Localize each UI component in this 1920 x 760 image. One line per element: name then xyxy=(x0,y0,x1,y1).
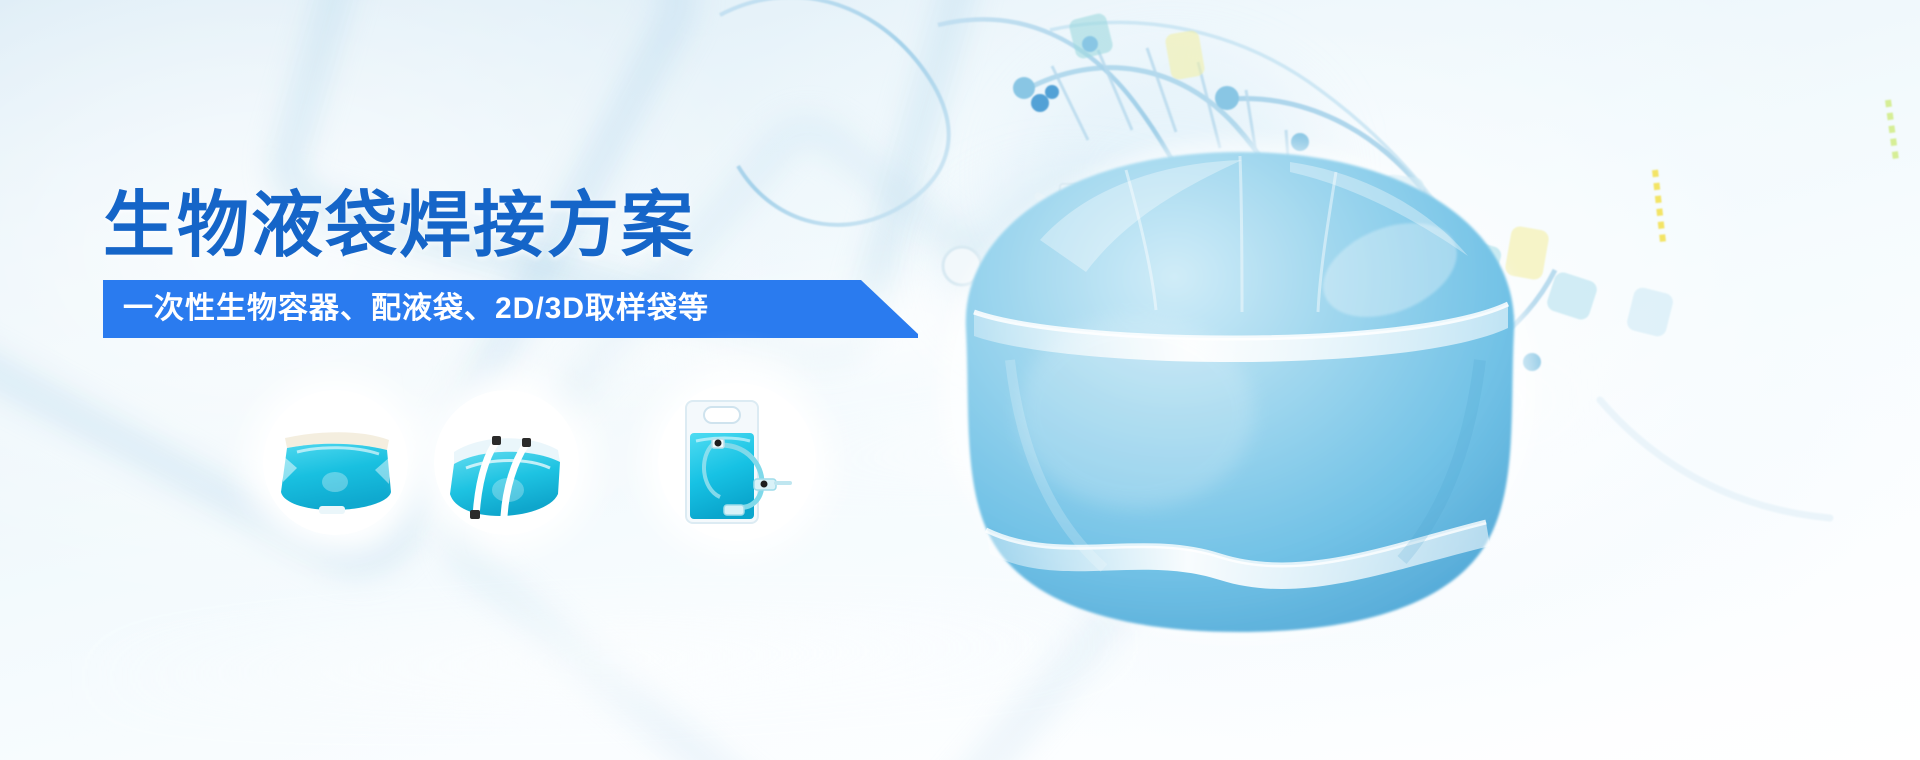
3d-sampling-bag-icon xyxy=(434,390,579,535)
banner-subtitle-ribbon: 一次性生物容器、配液袋、2D/3D取样袋等 xyxy=(103,280,918,338)
thumbnail-tubing-sampling-bag[interactable] xyxy=(658,383,816,541)
thumbnail-3d-sampling-bag[interactable] xyxy=(434,390,579,535)
product-hero-banner: 生物液袋焊接方案 一次性生物容器、配液袋、2D/3D取样袋等 xyxy=(0,0,1920,760)
thumbnail-2d-liquid-bag[interactable] xyxy=(263,390,408,535)
hero-bioprocess-bag-image xyxy=(890,60,1590,660)
banner-subtitle: 一次性生物容器、配液袋、2D/3D取样袋等 xyxy=(123,280,709,338)
tubing-sampling-bag-icon xyxy=(658,383,816,541)
banner-headline: 生物液袋焊接方案 xyxy=(103,190,695,262)
2d-liquid-bag-icon xyxy=(263,390,408,535)
